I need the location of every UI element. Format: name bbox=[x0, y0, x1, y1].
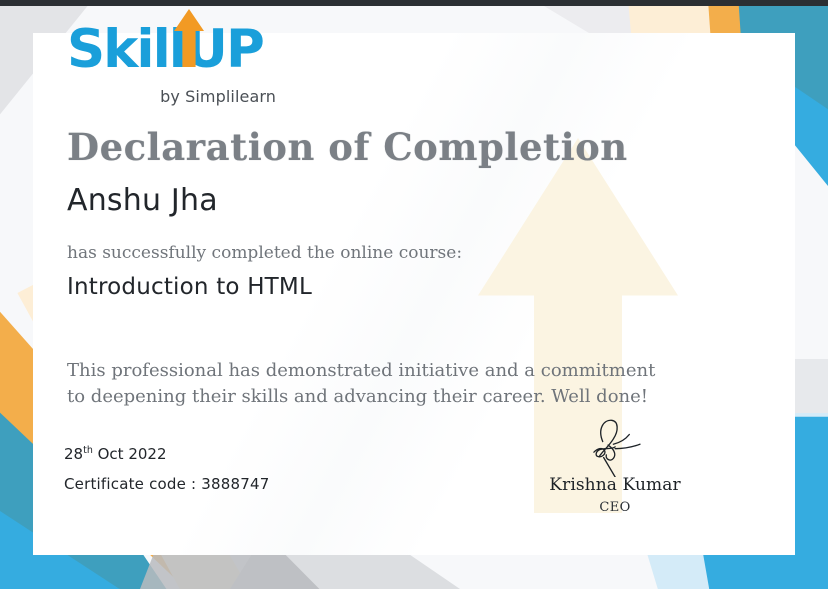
issue-date-ordinal: th bbox=[83, 445, 93, 456]
body-paragraph: This professional has demonstrated initi… bbox=[67, 358, 677, 410]
brand-wordmark-text: SkillUP bbox=[67, 19, 263, 80]
page-title: Declaration of Completion bbox=[67, 125, 628, 169]
recipient-name: Anshu Jha bbox=[67, 183, 218, 218]
certificate-page: SkillUP by Simplilearn Declaration of Co… bbox=[0, 0, 828, 589]
top-edge-bar bbox=[0, 0, 828, 6]
handwritten-signature-icon bbox=[562, 415, 668, 477]
course-name: Introduction to HTML bbox=[67, 274, 312, 300]
issue-date: 28th Oct 2022 bbox=[64, 445, 167, 463]
issue-date-rest: Oct 2022 bbox=[93, 445, 167, 463]
certificate-code: Certificate code : 3888747 bbox=[64, 475, 269, 493]
certificate-content: SkillUP by Simplilearn Declaration of Co… bbox=[0, 0, 828, 589]
signatory-name: Krishna Kumar bbox=[525, 475, 705, 495]
course-intro-text: has successfully completed the online co… bbox=[67, 243, 462, 263]
signatory-role: CEO bbox=[525, 500, 705, 515]
issue-date-day: 28 bbox=[64, 445, 83, 463]
brand-wordmark: SkillUP bbox=[67, 23, 277, 76]
signature-block: Krishna Kumar CEO bbox=[525, 415, 705, 515]
brand-logo: SkillUP by Simplilearn bbox=[67, 23, 277, 106]
brand-tagline: by Simplilearn bbox=[67, 87, 277, 106]
